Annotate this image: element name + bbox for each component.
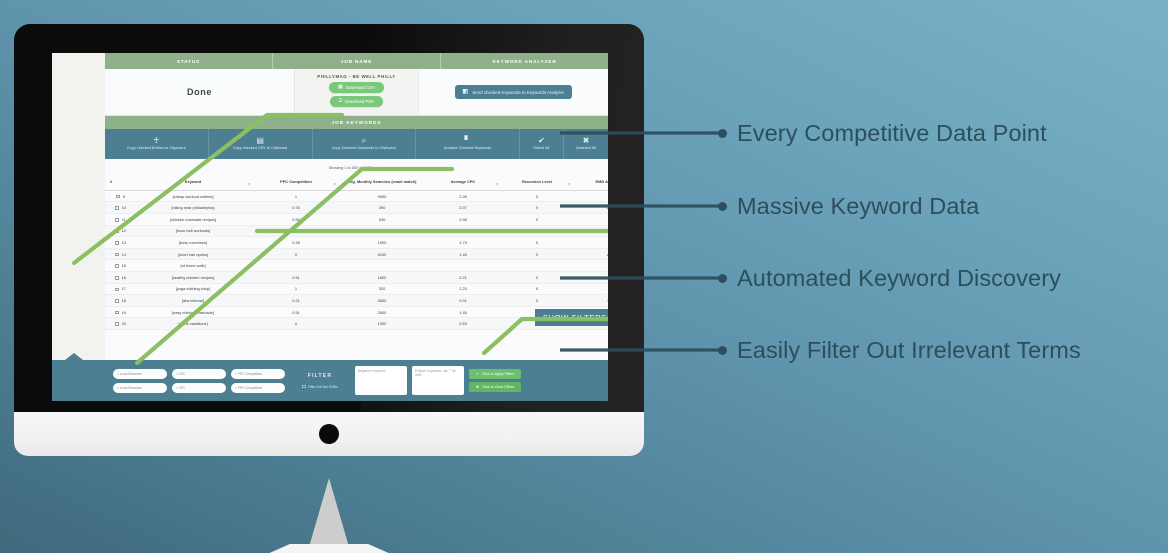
table-row[interactable]: 13[bosu exercises]0.2819001.730.net: [105, 237, 608, 249]
row-index-label: 18: [122, 298, 126, 303]
checkbox-box: [302, 385, 306, 389]
monitor: STATUS JOB NAME KEYWORD ANALYZER Done PH…: [14, 24, 644, 456]
filter-pill-lt-local-searches[interactable]: < Local Searches: [113, 369, 167, 379]
cell-avg-monthly-searches: 2600: [339, 306, 425, 318]
sort-icon: ⇵: [333, 183, 336, 187]
row-checkbox[interactable]: [115, 218, 119, 222]
header-job-name: JOB NAME: [273, 53, 441, 69]
download-pdf-button[interactable]: ⌻ Download PDF: [330, 96, 383, 107]
monitor-indicator-dot: [319, 424, 339, 444]
cell-emd-available: .com: [573, 272, 608, 284]
cell-avg-monthly-searches: 1900: [339, 237, 425, 249]
table-header-row: # Keyword⇵ PPC Competition⇵ Avg. Monthly…: [105, 176, 608, 190]
bullet-dot-icon: [718, 202, 727, 211]
filter-pill-gt-local-searches[interactable]: > Local Searches: [113, 383, 167, 393]
filter-out-non-emds-label: Filter Out Non-EMDs: [308, 385, 338, 389]
cell-emd-available: .net: [573, 214, 608, 226]
cell-avg-monthly-searches: 320: [339, 283, 425, 295]
row-checkbox[interactable]: [115, 264, 119, 268]
bar-chart-icon: 📊: [463, 89, 468, 95]
row-index[interactable]: 17: [105, 283, 133, 295]
bullet-dot-icon: [718, 346, 727, 355]
keyword-toolbar: ♰ Copy checked Entries to Clipboard ▤ Co…: [105, 129, 608, 159]
cell-avg-monthly-searches: 1900: [339, 225, 425, 237]
row-index-label: 17: [122, 286, 126, 291]
feature-annotations: Every Competitive Data Point Massive Key…: [644, 0, 1168, 553]
row-index[interactable]: 16: [105, 272, 133, 284]
row-index-label: 19: [122, 310, 126, 315]
table-copy-icon: ▤: [256, 137, 264, 145]
cell-keyword: [chicken marinade recipes]: [133, 214, 253, 226]
send-to-analyzer-label: Send checked Keywords to Keywords Analyz…: [472, 90, 564, 95]
annotation-4-label: Easily Filter Out Irrelevant Terms: [737, 337, 1081, 364]
row-index-label: 9: [123, 194, 125, 199]
apply-filters-button[interactable]: ✔ Click to Apply Filters: [469, 369, 521, 379]
apply-filters-label: Click to Apply Filters: [482, 372, 514, 376]
cell-recursion-level: 0: [501, 248, 573, 260]
cell-ppc-competition: 0.51: [253, 272, 339, 284]
annotation-3: Automated Keyword Discovery: [718, 265, 1061, 292]
bullet-dot-icon: [718, 274, 727, 283]
cell-keyword: [short hair updos]: [133, 248, 253, 260]
negative-keywords-textarea[interactable]: Negative Keywords: [355, 366, 407, 395]
copy-entries-button[interactable]: ♰ Copy checked Entries to Clipboard: [105, 129, 209, 159]
filter-out-non-emds-checkbox[interactable]: Filter Out Non-EMDs: [302, 385, 338, 389]
table-row[interactable]: 12[bosu ball workouts]0.2119002.630.net: [105, 225, 608, 237]
filter-pills-col-2: < CPC > CPC: [172, 369, 226, 393]
row-index-label: 12: [122, 228, 126, 233]
row-index-label: 14: [122, 252, 126, 257]
copy-keywords-label: Copy Checked Keywords to Clipboard: [332, 147, 396, 151]
cell-recursion-level: 0: [501, 214, 573, 226]
cell-recursion-level: 0: [501, 272, 573, 284]
annotation-4: Easily Filter Out Irrelevant Terms: [718, 337, 1081, 364]
download-pdf-label: Download PDF: [345, 99, 374, 104]
table-row[interactable]: 16[healthy chicken recipes]0.5116002.210…: [105, 272, 608, 284]
cell-ppc-competition: 0.51: [253, 306, 339, 318]
cell-emd-available: .com: [573, 202, 608, 214]
table-row[interactable]: 9[cheap workout clothes]199002.260.net: [105, 190, 608, 202]
filter-bar: < Local Searches > Local Searches < CPC …: [52, 360, 608, 401]
cell-keyword: [plank variations]: [133, 318, 253, 330]
sort-icon: ⇵: [247, 183, 250, 187]
cell-avg-monthly-searches: 540: [339, 214, 425, 226]
row-index-label: 11: [122, 217, 126, 222]
download-csv-button[interactable]: ▦ Download CSV: [329, 82, 384, 93]
cell-emd-available: No: [573, 295, 608, 307]
cell-average-cpc: 0.01: [425, 295, 501, 307]
cell-ppc-competition: 0.21: [253, 225, 339, 237]
cell-emd-available: .net: [573, 283, 608, 295]
copy-keywords-button[interactable]: ⌕ Copy Checked Keywords to Clipboard: [313, 129, 417, 159]
cell-average-cpc: 2.21: [425, 272, 501, 284]
cell-avg-monthly-searches: 1900: [339, 318, 425, 330]
sort-icon: ⇵: [495, 183, 498, 187]
filter-action-buttons: ✔ Click to Apply Filters ✖ Click to Clea…: [469, 369, 521, 392]
row-index[interactable]: 10: [105, 202, 133, 214]
cell-average-cpc: 0.98: [425, 214, 501, 226]
row-index-label: 20: [122, 321, 126, 326]
select-all-label: Select All: [534, 147, 550, 151]
monitor-stand-neck: [309, 478, 349, 547]
row-checkbox[interactable]: [115, 253, 119, 257]
row-index-label: 13: [122, 240, 126, 245]
keyword-analyzer-panel: 📊 Send checked Keywords to Keywords Anal…: [419, 69, 608, 115]
job-name-panel: PHILLYMAG - BE WELL PHILLY ▦ Download CS…: [294, 69, 419, 115]
row-index-label: 16: [122, 275, 126, 280]
check-icon: ✔: [476, 372, 479, 376]
filter-pills-col-3: < PPC Competition > PPC Competition: [231, 369, 285, 393]
cell-avg-monthly-searches: 9900: [339, 190, 425, 202]
cross-icon: ✖: [476, 385, 479, 389]
row-checkbox[interactable]: [115, 311, 119, 315]
row-checkbox[interactable]: [115, 299, 119, 303]
annotation-1-label: Every Competitive Data Point: [737, 120, 1047, 147]
cell-average-cpc: 1.45: [425, 248, 501, 260]
copy-csv-button[interactable]: ▤ Copy checked CSV to Clipboard: [209, 129, 313, 159]
cell-ppc-competition: 0.56: [253, 214, 339, 226]
cell-keyword: [at home walk]: [133, 260, 253, 272]
table-row[interactable]: 14[short hair updos]081001.450.com: [105, 248, 608, 260]
cell-keyword: [bosu exercises]: [133, 237, 253, 249]
cell-avg-monthly-searches: 1600: [339, 272, 425, 284]
row-index[interactable]: 12: [105, 225, 133, 237]
cell-keyword: [easy chicken marinade]: [133, 306, 253, 318]
annotation-2: Massive Keyword Data: [718, 193, 979, 220]
row-index[interactable]: 20: [105, 318, 133, 330]
annotation-2-label: Massive Keyword Data: [737, 193, 979, 220]
job-title: PHILLYMAG - BE WELL PHILLY: [317, 74, 395, 79]
row-checkbox[interactable]: [115, 288, 119, 292]
cell-average-cpc: 1.45: [425, 306, 501, 318]
row-index[interactable]: 15: [105, 260, 133, 272]
showing-entries-text: Showing 1 to 500 of 1677 entries: [105, 159, 608, 176]
col-keyword[interactable]: Keyword⇵: [133, 176, 253, 190]
header-keyword-analyzer: KEYWORD ANALYZER: [441, 53, 608, 69]
col-avg-monthly-searches[interactable]: Avg. Monthly Searches (exact match): [339, 176, 425, 190]
row-checkbox[interactable]: [115, 322, 119, 326]
filter-pill-lt-ppc-competition[interactable]: < PPC Competition: [231, 369, 285, 379]
filter-label-group: FILTER Filter Out Non-EMDs: [290, 373, 350, 389]
table-row[interactable]: 15[at home walk]: [105, 260, 608, 272]
filter-pill-lt-cpc[interactable]: < CPC: [172, 369, 226, 379]
row-index-label: 15: [122, 263, 126, 268]
filter-pill-gt-cpc[interactable]: > CPC: [172, 383, 226, 393]
col-ppc-competition[interactable]: PPC Competition⇵: [253, 176, 339, 190]
col-recursion-level[interactable]: Recursion Level⇵: [501, 176, 573, 190]
monitor-stand-base: [231, 544, 427, 553]
send-to-analyzer-button[interactable]: 📊 Send checked Keywords to Keywords Anal…: [455, 85, 572, 99]
cell-ppc-competition: 0.28: [253, 237, 339, 249]
table-row[interactable]: 10[hiking near philadelphia]0.763903.070…: [105, 202, 608, 214]
row-checkbox[interactable]: [115, 230, 119, 234]
cell-ppc-competition: 1: [253, 283, 339, 295]
keywords-table-body: 9[cheap workout clothes]199002.260.net10…: [105, 190, 608, 329]
bar-chart-icon: ▘: [465, 137, 471, 145]
row-index[interactable]: 18: [105, 295, 133, 307]
header-status: STATUS: [105, 53, 273, 69]
row-index[interactable]: 13: [105, 237, 133, 249]
cell-average-cpc: 2.23: [425, 283, 501, 295]
cell-ppc-competition: 1: [253, 190, 339, 202]
cell-average-cpc: 2.26: [425, 190, 501, 202]
table-row[interactable]: 11[chicken marinade recipes]0.565400.980…: [105, 214, 608, 226]
filter-pill-gt-ppc-competition[interactable]: > PPC Competition: [231, 383, 285, 393]
cell-average-cpc: 3.07: [425, 202, 501, 214]
row-checkbox[interactable]: [115, 241, 119, 245]
cell-recursion-level: 0: [501, 283, 573, 295]
cell-ppc-competition: 0.76: [253, 202, 339, 214]
cell-avg-monthly-searches: [339, 260, 425, 272]
cell-ppc-competition: [253, 260, 339, 272]
row-index[interactable]: 9: [105, 190, 133, 202]
col-average-cpc[interactable]: Average CPC⇵: [425, 176, 501, 190]
cell-recursion-level: 0: [501, 225, 573, 237]
cell-keyword: [healthy chicken recipes]: [133, 272, 253, 284]
cell-keyword: [yoga clothing shop]: [133, 283, 253, 295]
analyze-keywords-label: Analyze Checked Keywords: [444, 147, 491, 151]
annotation-1: Every Competitive Data Point: [718, 120, 1047, 147]
cell-average-cpc: 1.73: [425, 237, 501, 249]
magnifier-icon: ⌕: [362, 137, 366, 145]
cell-emd-available: .com: [573, 248, 608, 260]
copy-csv-label: Copy checked CSV to Clipboard: [233, 147, 288, 151]
cell-average-cpc: 0.63: [425, 318, 501, 330]
keywords-table: # Keyword⇵ PPC Competition⇵ Avg. Monthly…: [105, 176, 608, 330]
cell-avg-monthly-searches: 8100: [339, 248, 425, 260]
row-index-label: 10: [122, 205, 126, 210]
filter-heading: FILTER: [308, 373, 332, 379]
cell-avg-monthly-searches: 5800: [339, 295, 425, 307]
job-info-row: Done PHILLYMAG - BE WELL PHILLY ▦ Downlo…: [105, 69, 608, 116]
status-value: Done: [105, 69, 294, 115]
job-keywords-band: JOB KEYWORDS: [105, 116, 608, 129]
csv-icon: ▦: [338, 85, 343, 90]
check-icon: ✔: [538, 137, 545, 145]
show-filters-tab[interactable]: SHOW FILTERS: [535, 309, 608, 326]
clear-filters-button[interactable]: ✖ Click to Clear Filters: [469, 382, 521, 392]
positive-keywords-textarea[interactable]: Positive Keywords, use "" for AND: [412, 366, 464, 395]
cell-recursion-level: 0: [501, 295, 573, 307]
row-index[interactable]: 14: [105, 248, 133, 260]
cell-emd-available: .net: [573, 190, 608, 202]
annotation-3-label: Automated Keyword Discovery: [737, 265, 1061, 292]
cell-keyword: [cheap workout clothes]: [133, 190, 253, 202]
table-row[interactable]: 20[plank variations]019000.630.com: [105, 318, 608, 330]
cell-keyword: [abs interval]: [133, 295, 253, 307]
cell-average-cpc: 2.63: [425, 225, 501, 237]
sort-icon: ⇵: [567, 183, 570, 187]
unselect-all-label: Unselect All: [576, 147, 596, 151]
clear-filters-label: Click to Clear Filters: [482, 385, 514, 389]
cell-recursion-level: 0: [501, 202, 573, 214]
copy-entries-label: Copy checked Entries to Clipboard: [127, 147, 186, 151]
row-index[interactable]: 19: [105, 306, 133, 318]
cell-ppc-competition: 0: [253, 248, 339, 260]
row-checkbox[interactable]: [115, 206, 119, 210]
monitor-screen: STATUS JOB NAME KEYWORD ANALYZER Done PH…: [52, 53, 608, 401]
cell-recursion-level: 0: [501, 237, 573, 249]
filter-bar-peak: [65, 353, 83, 360]
cell-emd-available: [573, 260, 608, 272]
filter-pills-col-1: < Local Searches > Local Searches: [113, 369, 167, 393]
select-all-button[interactable]: ✔ Select All: [520, 129, 564, 159]
app-window: STATUS JOB NAME KEYWORD ANALYZER Done PH…: [52, 53, 608, 401]
pdf-icon: ⌻: [339, 99, 342, 104]
row-checkbox[interactable]: [115, 276, 119, 280]
cell-keyword: [hiking near philadelphia]: [133, 202, 253, 214]
col-emd-available[interactable]: EMD Available?⇵: [573, 176, 608, 190]
cell-avg-monthly-searches: 390: [339, 202, 425, 214]
col-index[interactable]: #: [105, 176, 133, 190]
app-content: STATUS JOB NAME KEYWORD ANALYZER Done PH…: [105, 53, 608, 401]
table-row[interactable]: 17[yoga clothing shop]13202.230.net: [105, 283, 608, 295]
cell-emd-available: .net: [573, 237, 608, 249]
cross-icon: ✖: [583, 137, 590, 145]
table-row[interactable]: 19[easy chicken marinade]0.5126001.450.n…: [105, 306, 608, 318]
row-index[interactable]: 11: [105, 214, 133, 226]
cell-keyword: [bosu ball workouts]: [133, 225, 253, 237]
cell-ppc-competition: 0: [253, 318, 339, 330]
cell-ppc-competition: 0.21: [253, 295, 339, 307]
clipboard-icon: ♰: [153, 137, 159, 145]
cell-recursion-level: 0: [501, 190, 573, 202]
cell-average-cpc: [425, 260, 501, 272]
download-csv-label: Download CSV: [346, 85, 375, 90]
table-row[interactable]: 18[abs interval]0.2158000.010No: [105, 295, 608, 307]
row-checkbox[interactable]: [116, 195, 120, 199]
section-header-row: STATUS JOB NAME KEYWORD ANALYZER: [105, 53, 608, 69]
analyze-keywords-button[interactable]: ▘ Analyze Checked Keywords: [416, 129, 520, 159]
cell-recursion-level: [501, 260, 573, 272]
unselect-all-button[interactable]: ✖ Unselect All: [564, 129, 608, 159]
monitor-chin: [14, 412, 644, 456]
bullet-dot-icon: [718, 129, 727, 138]
cell-emd-available: .net: [573, 225, 608, 237]
